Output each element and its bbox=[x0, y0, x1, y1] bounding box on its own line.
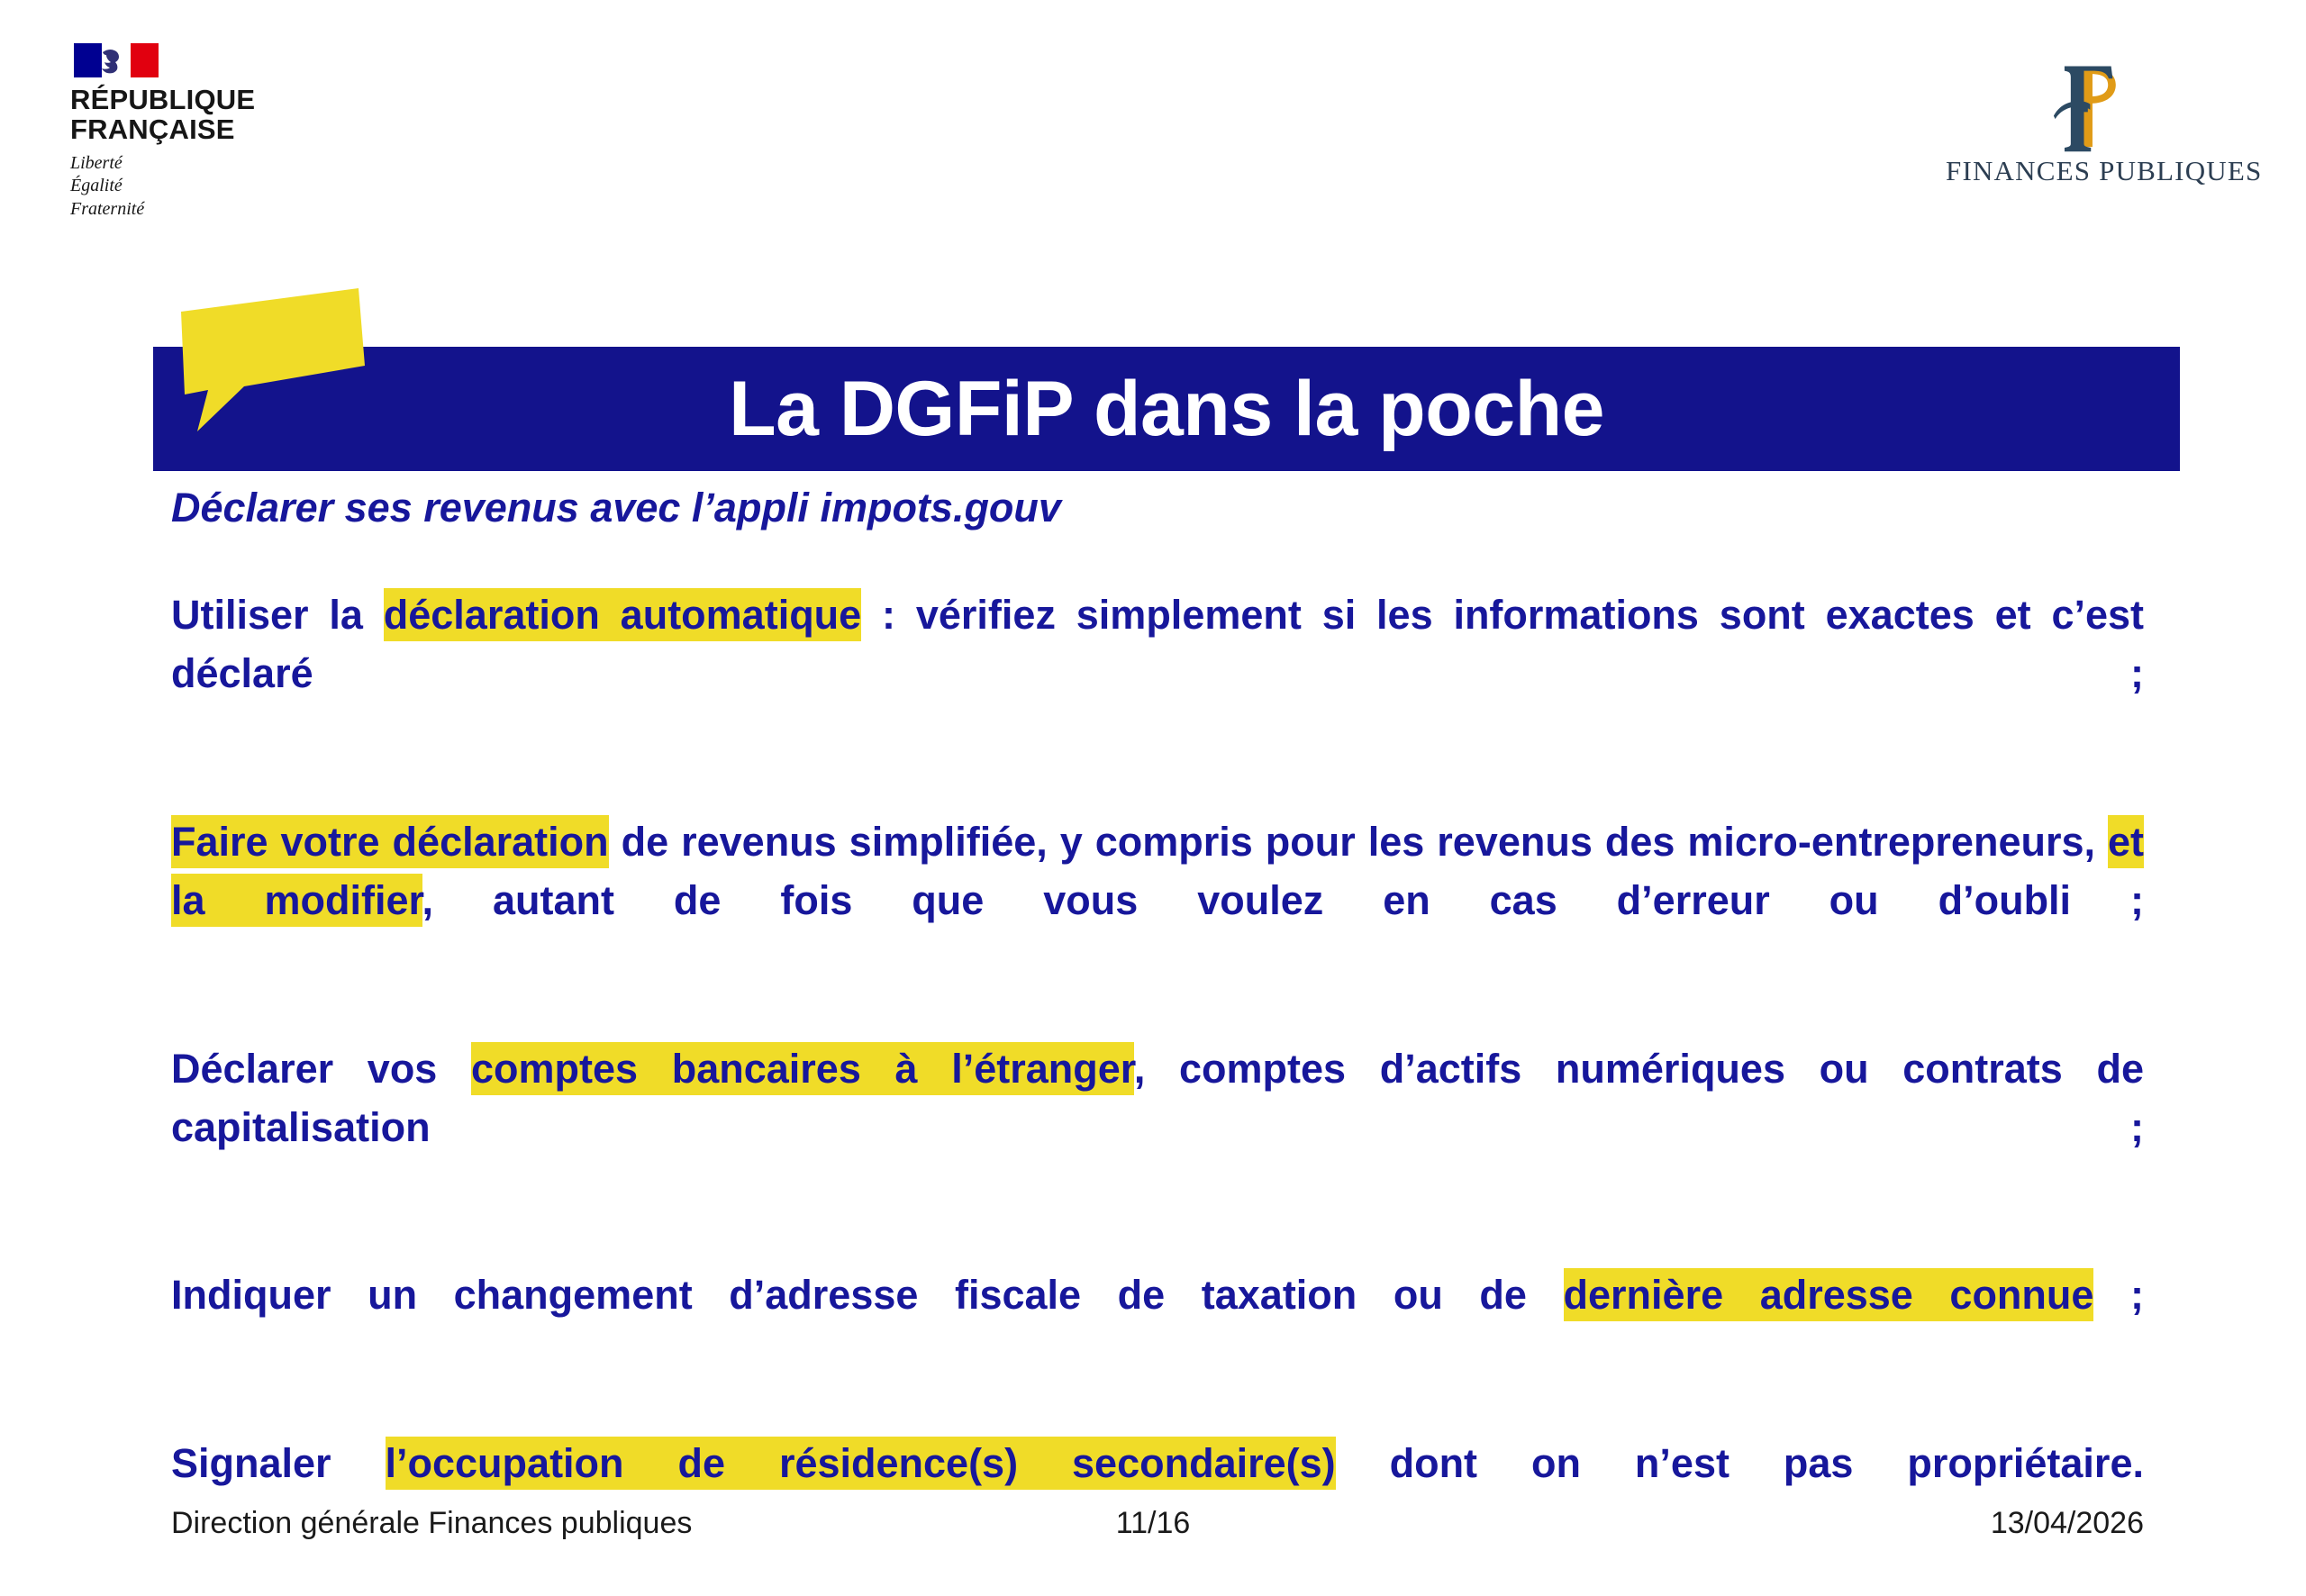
slide-canvas: RÉPUBLIQUE FRANÇAISE Liberté Égalité Fra… bbox=[0, 0, 2306, 1596]
paragraph-changement-adresse: Indiquer un changement d’adresse fiscale… bbox=[171, 1265, 2144, 1383]
footer-page-number: 11/16 bbox=[0, 1506, 2306, 1541]
fp-monogram-icon bbox=[2047, 52, 2140, 153]
paragraph-comptes-etranger: Déclarer vos comptes bancaires à l’étran… bbox=[171, 1039, 2144, 1216]
republique-francaise-logo: RÉPUBLIQUE FRANÇAISE Liberté Égalité Fra… bbox=[70, 43, 322, 222]
highlighted-text: comptes bancaires à l’étranger bbox=[471, 1042, 1134, 1095]
rf-line-1: RÉPUBLIQUE bbox=[70, 86, 322, 115]
plain-text: Indiquer un changement d’adresse fiscale… bbox=[171, 1272, 1564, 1318]
finances-publiques-logo: FINANCES PUBLIQUES bbox=[1946, 52, 2243, 187]
republique-devise: Liberté Égalité Fraternité bbox=[70, 152, 322, 222]
republique-francaise-wordmark: RÉPUBLIQUE FRANÇAISE bbox=[70, 86, 322, 145]
paragraph-declaration-simplifiee: Faire votre déclaration de revenus simpl… bbox=[171, 812, 2144, 989]
plain-text: , autant de fois que vous voulez en cas … bbox=[422, 877, 2144, 923]
plain-text: Utiliser la bbox=[171, 592, 384, 638]
slide-subtitle: Déclarer ses revenus avec l’appli impots… bbox=[171, 485, 1061, 531]
highlighted-text: déclaration automatique bbox=[384, 588, 861, 641]
devise-egalite: Égalité bbox=[70, 175, 322, 198]
plain-text: Signaler bbox=[171, 1440, 386, 1486]
highlighted-text: l’occupation de résidence(s) secondaire(… bbox=[386, 1437, 1336, 1490]
plain-text: Déclarer vos bbox=[171, 1046, 471, 1092]
speech-bubble-icon bbox=[167, 281, 374, 461]
footer-date: 13/04/2026 bbox=[1991, 1506, 2144, 1541]
body-content: Utiliser la déclaration automatique : vé… bbox=[171, 585, 2144, 1551]
page-title: La DGFiP dans la poche bbox=[153, 347, 2180, 471]
marianne-profile-icon bbox=[97, 45, 135, 76]
highlighted-text: Faire votre déclaration bbox=[171, 815, 609, 868]
paragraph-declaration-automatique: Utiliser la déclaration automatique : vé… bbox=[171, 585, 2144, 762]
french-flag-marianne-icon bbox=[74, 43, 159, 77]
devise-fraternite: Fraternité bbox=[70, 198, 322, 222]
slide-footer: Direction générale Finances publiques 11… bbox=[0, 1506, 2306, 1542]
plain-text: dont on n’est pas propriétaire. bbox=[1336, 1440, 2144, 1486]
highlighted-text: dernière adresse connue bbox=[1564, 1268, 2094, 1321]
rf-line-2: FRANÇAISE bbox=[70, 115, 322, 145]
finances-publiques-label: FINANCES PUBLIQUES bbox=[1946, 155, 2243, 187]
devise-liberte: Liberté bbox=[70, 152, 322, 176]
plain-text: ; bbox=[2093, 1272, 2144, 1318]
plain-text: de revenus simplifiée, y compris pour le… bbox=[609, 819, 2108, 865]
title-banner: La DGFiP dans la poche bbox=[153, 347, 2180, 471]
